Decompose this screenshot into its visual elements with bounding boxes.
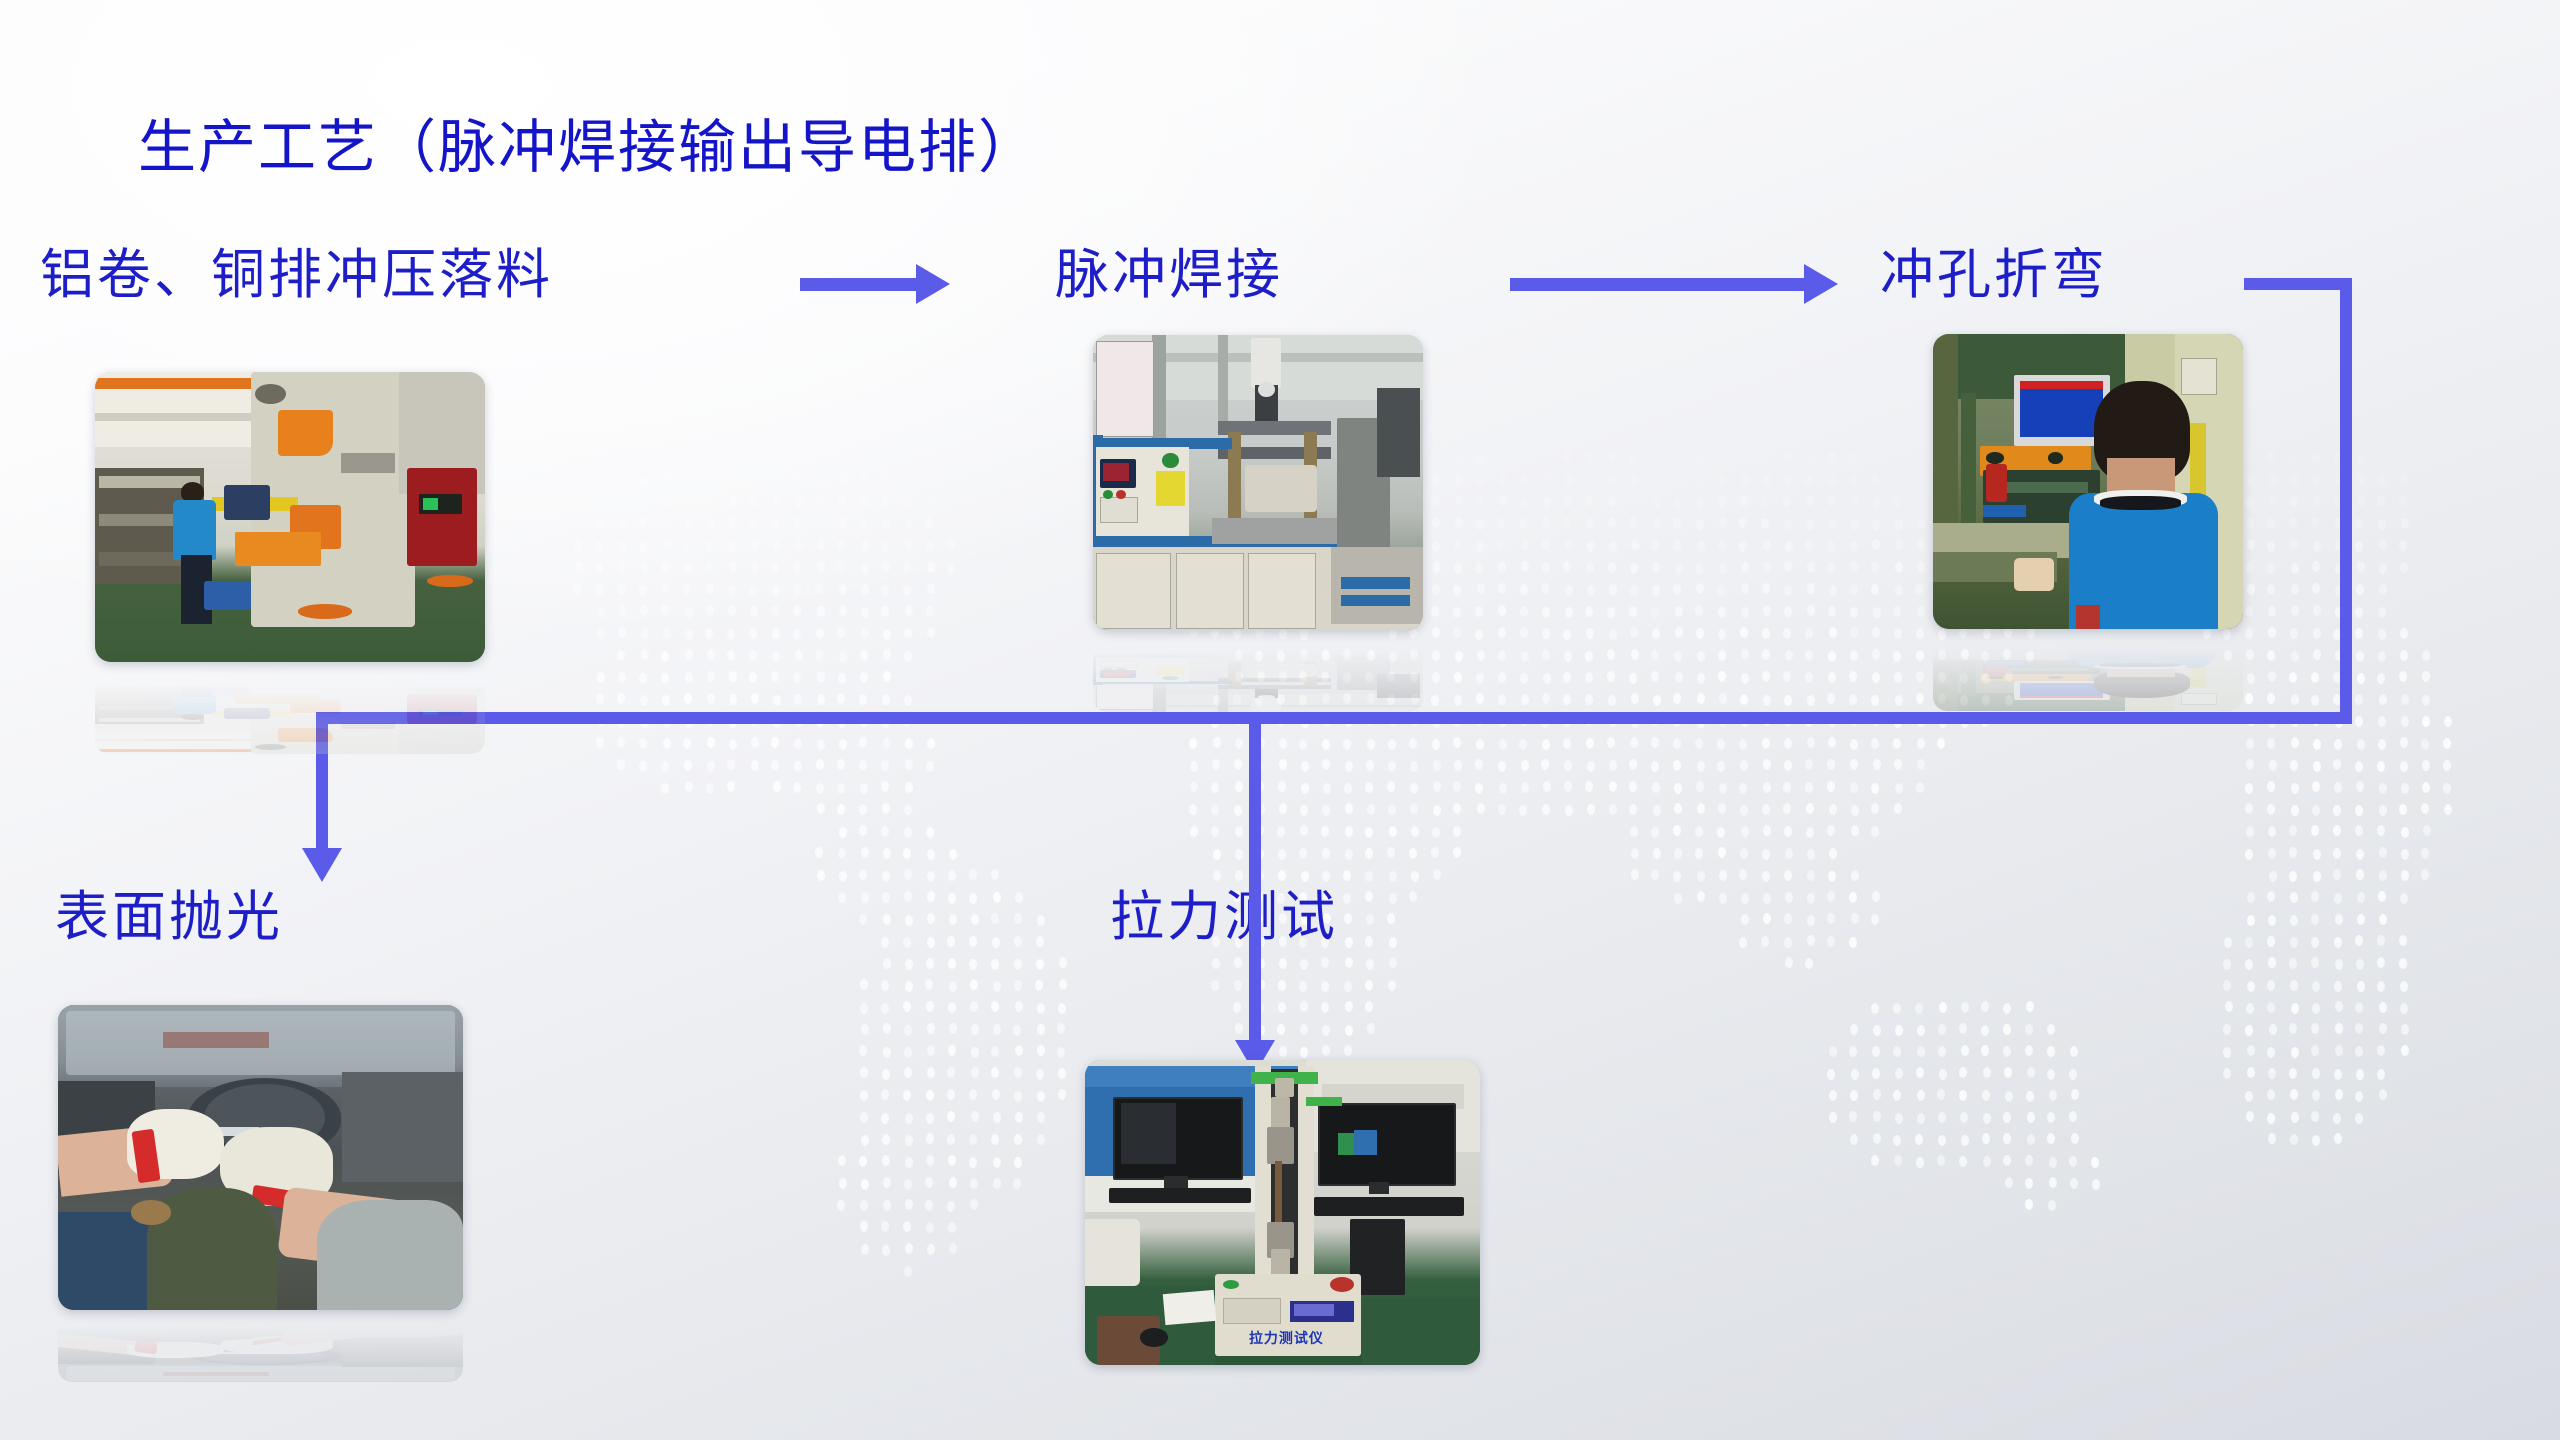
connector-to-step5-vertical	[1249, 712, 1261, 1046]
step-label-4: 表面抛光	[55, 890, 283, 944]
tensile-test-photo: 拉力测试仪	[1085, 1060, 1480, 1365]
connector-step3-right-segment	[2244, 278, 2352, 290]
pulse-welding-machine-photo	[1093, 335, 1423, 630]
step-label-1: 铝卷、铜排冲压落料	[40, 248, 553, 302]
tensile-machine-label: 拉力测试仪	[1227, 1328, 1346, 1352]
arrow-step1-to-step2-line	[800, 278, 918, 291]
slide-canvas: 生产工艺（脉冲焊接输出导电排） 铝卷、铜排冲压落料 脉冲焊接 冲孔折弯 表面抛光…	[0, 0, 2560, 1440]
arrow-step1-to-step2-head	[916, 264, 950, 304]
arrow-step2-to-step3-head	[1804, 264, 1838, 304]
pulse-welding-machine-photo-reflection	[1093, 632, 1423, 712]
arrow-to-step4-head	[302, 848, 342, 882]
connector-to-step4-vertical	[316, 712, 328, 852]
stamping-press-photo-reflection	[95, 664, 485, 754]
step-label-3: 冲孔折弯	[1880, 248, 2108, 302]
connector-step3-vertical-down	[2340, 278, 2352, 718]
step-label-5: 拉力测试	[1110, 890, 1338, 944]
surface-polishing-photo-reflection	[58, 1312, 463, 1382]
arrow-step2-to-step3-line	[1510, 278, 1806, 291]
surface-polishing-photo	[58, 1005, 463, 1310]
step-label-2: 脉冲焊接	[1055, 248, 1283, 302]
stamping-press-photo	[95, 372, 485, 662]
connector-long-horizontal-bus	[316, 712, 2352, 724]
punching-bending-photo-reflection	[1933, 631, 2243, 711]
page-title: 生产工艺（脉冲焊接输出导电排）	[138, 118, 1038, 176]
punching-bending-photo	[1933, 334, 2243, 629]
